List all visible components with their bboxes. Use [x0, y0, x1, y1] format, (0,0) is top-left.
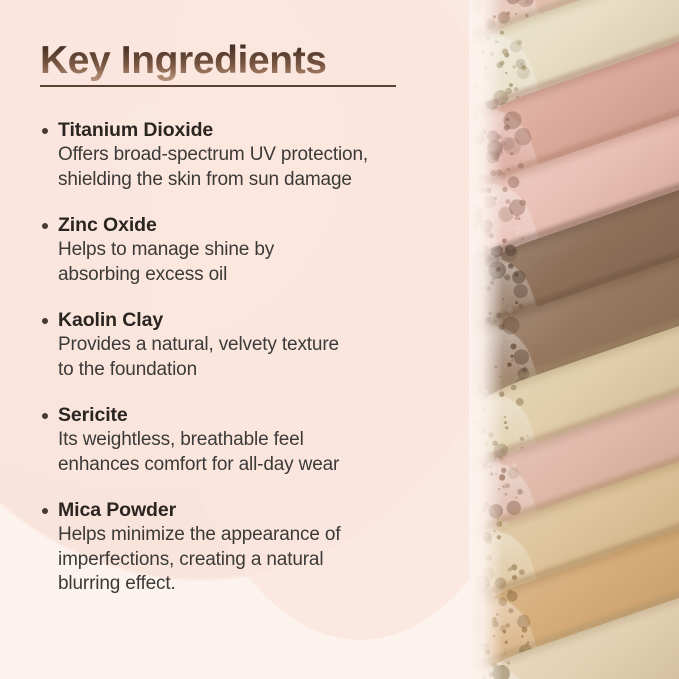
powder-bands: [469, 0, 679, 679]
ingredient-description: Its weightless, breathable feel enhances…: [58, 428, 450, 477]
ingredient-name: Mica Powder: [58, 498, 450, 522]
bullet-icon: [42, 508, 48, 514]
content-column: Key Ingredients Titanium DioxideOffers b…: [0, 0, 470, 679]
page-title: Key Ingredients: [40, 38, 327, 84]
ingredient-description: Helps to manage shine by absorbing exces…: [58, 238, 450, 287]
ingredient-list: Titanium DioxideOffers broad-spectrum UV…: [40, 118, 450, 597]
bullet-icon: [42, 223, 48, 229]
ingredient-item: Titanium DioxideOffers broad-spectrum UV…: [40, 118, 450, 192]
ingredient-item: SericiteIts weightless, breathable feel …: [40, 403, 450, 477]
title-underline: [40, 85, 396, 87]
ingredient-name: Sericite: [58, 403, 450, 427]
key-ingredients-graphic: Key Ingredients Titanium DioxideOffers b…: [0, 0, 679, 679]
powder-swatch-photo: [469, 0, 679, 679]
ingredient-item: Kaolin ClayProvides a natural, velvety t…: [40, 308, 450, 382]
ingredient-item: Zinc OxideHelps to manage shine by absor…: [40, 213, 450, 287]
ingredient-name: Titanium Dioxide: [58, 118, 450, 142]
ingredient-name: Zinc Oxide: [58, 213, 450, 237]
ingredient-name: Kaolin Clay: [58, 308, 450, 332]
bullet-icon: [42, 128, 48, 134]
ingredient-description: Helps minimize the appearance of imperfe…: [58, 523, 450, 597]
ingredient-description: Provides a natural, velvety texture to t…: [58, 333, 450, 382]
bullet-icon: [42, 413, 48, 419]
ingredient-description: Offers broad-spectrum UV protection, shi…: [58, 143, 450, 192]
bullet-icon: [42, 318, 48, 324]
ingredient-item: Mica PowderHelps minimize the appearance…: [40, 498, 450, 597]
heading-block: Key Ingredients: [40, 38, 420, 87]
